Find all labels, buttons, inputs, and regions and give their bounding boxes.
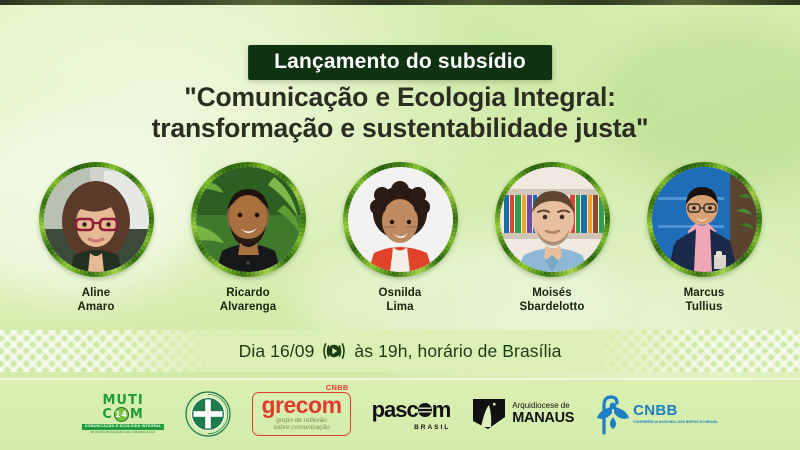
- muticom-anniversary-badge: 14: [114, 407, 129, 422]
- speaker-card: Aline Amaro: [32, 162, 160, 314]
- speaker-card: Osnilda Lima: [336, 162, 464, 314]
- speaker-card: Ricardo Alvarenga: [184, 162, 312, 314]
- speaker-name: Ricardo Alvarenga: [220, 286, 277, 314]
- speaker-name: Marcus Tullius: [684, 286, 725, 314]
- cnbb-logo: CNBB CONFERÊNCIA NACIONAL DOS BISPOS DO …: [595, 393, 718, 435]
- photo-ring: [495, 162, 610, 277]
- muticom-m: M: [130, 408, 144, 421]
- avatar: [500, 167, 605, 272]
- event-date: Dia 16/09: [239, 341, 315, 362]
- muticom-logo: MUTI C 14 M COMUNICAÇÃO E ECOLOGIA INTEG…: [82, 394, 165, 434]
- speaker-card: Moisés Sbardelotto: [488, 162, 616, 314]
- speaker-last-name: Amaro: [78, 301, 115, 313]
- photo-ring: [647, 162, 762, 277]
- speaker-last-name: Alvarenga: [220, 301, 277, 313]
- speaker-first-name: Osnilda: [379, 287, 422, 299]
- speaker-last-name: Lima: [386, 301, 413, 313]
- title-line-1: "Comunicação e Ecologia Integral:: [184, 82, 616, 112]
- avatar: [652, 167, 757, 272]
- manaus-mark-icon: [471, 397, 507, 431]
- speaker-name: Moisés Sbardelotto: [520, 286, 585, 314]
- grecom-cnbb-label: CNBB: [326, 383, 349, 392]
- pascom-wordmark: pasc m: [372, 397, 451, 423]
- speaker-list: Aline Amaro: [0, 162, 800, 314]
- page-title: "Comunicação e Ecologia Integral: transf…: [0, 82, 800, 144]
- speaker-name: Osnilda Lima: [379, 286, 422, 314]
- avatar: [348, 167, 453, 272]
- event-poster: Lançamento do subsídio "Comunicação e Ec…: [0, 0, 800, 450]
- photo-ring: [39, 162, 154, 277]
- launch-banner: Lançamento do subsídio: [248, 45, 552, 80]
- pascom-sub: BRASIL: [414, 424, 450, 431]
- grecom-sub-2: sobre comunicação: [261, 424, 341, 432]
- speaker-first-name: Moisés: [532, 287, 572, 299]
- speaker-name: Aline Amaro: [78, 286, 115, 314]
- usccb-seal-logo: [185, 391, 231, 437]
- top-edge-strip: [0, 0, 800, 5]
- speaker-last-name: Tullius: [686, 301, 723, 313]
- photo-ring: [343, 162, 458, 277]
- launch-banner-label: Lançamento do subsídio: [274, 51, 526, 72]
- muticom-tagline-2: MUTIRÃO BRASILEIRO DE COMUNICAÇÃO: [91, 431, 156, 434]
- pascom-logo: pasc m BRASIL: [372, 397, 451, 431]
- speaker-first-name: Aline: [82, 287, 111, 299]
- speaker-first-name: Marcus: [684, 287, 725, 299]
- manaus-line-2: MANAUS: [512, 411, 574, 426]
- speaker-first-name: Ricardo: [226, 287, 270, 299]
- grecom-wordmark: grecom: [261, 395, 341, 417]
- broadcast-play-icon: [321, 341, 347, 361]
- partner-logo-bar: MUTI C 14 M COMUNICAÇÃO E ECOLOGIA INTEG…: [0, 378, 800, 450]
- event-time: às 19h, horário de Brasília: [354, 341, 561, 362]
- cnbb-sub: CONFERÊNCIA NACIONAL DOS BISPOS DO BRASI…: [633, 420, 718, 424]
- photo-ring: [191, 162, 306, 277]
- grecom-sub-1: grupo de reflexão: [261, 417, 341, 425]
- avatar: [44, 167, 149, 272]
- arquidiocese-manaus-logo: Arquidiocese de MANAUS: [471, 397, 574, 431]
- grecom-logo: CNBB grecom grupo de reflexão sobre comu…: [252, 392, 350, 436]
- cnbb-crosier-dove-icon: [595, 393, 629, 435]
- event-datetime: Dia 16/09 às 19h, horário de Brasília: [0, 330, 800, 372]
- speaker-card: Marcus Tullius: [640, 162, 768, 314]
- muticom-line-2: C 14 M: [102, 407, 143, 422]
- speaker-last-name: Sbardelotto: [520, 301, 585, 313]
- muticom-tagline: COMUNICAÇÃO E ECOLOGIA INTEGRAL: [82, 424, 165, 430]
- pascom-word-start: pasc: [372, 397, 418, 423]
- muticom-c: C: [102, 408, 113, 421]
- cnbb-wordmark: CNBB: [633, 403, 718, 418]
- muticom-line-1: MUTI: [102, 394, 143, 407]
- manaus-text: Arquidiocese de MANAUS: [512, 402, 574, 426]
- title-line-2: transformação e sustentabilidade justa": [0, 113, 800, 144]
- pascom-globe-icon: [417, 402, 433, 418]
- cnbb-text: CNBB CONFERÊNCIA NACIONAL DOS BISPOS DO …: [633, 403, 718, 424]
- avatar: [196, 167, 301, 272]
- grecom-speech-bubble: grecom grupo de reflexão sobre comunicaç…: [252, 392, 350, 436]
- pascom-word-end: m: [432, 397, 451, 423]
